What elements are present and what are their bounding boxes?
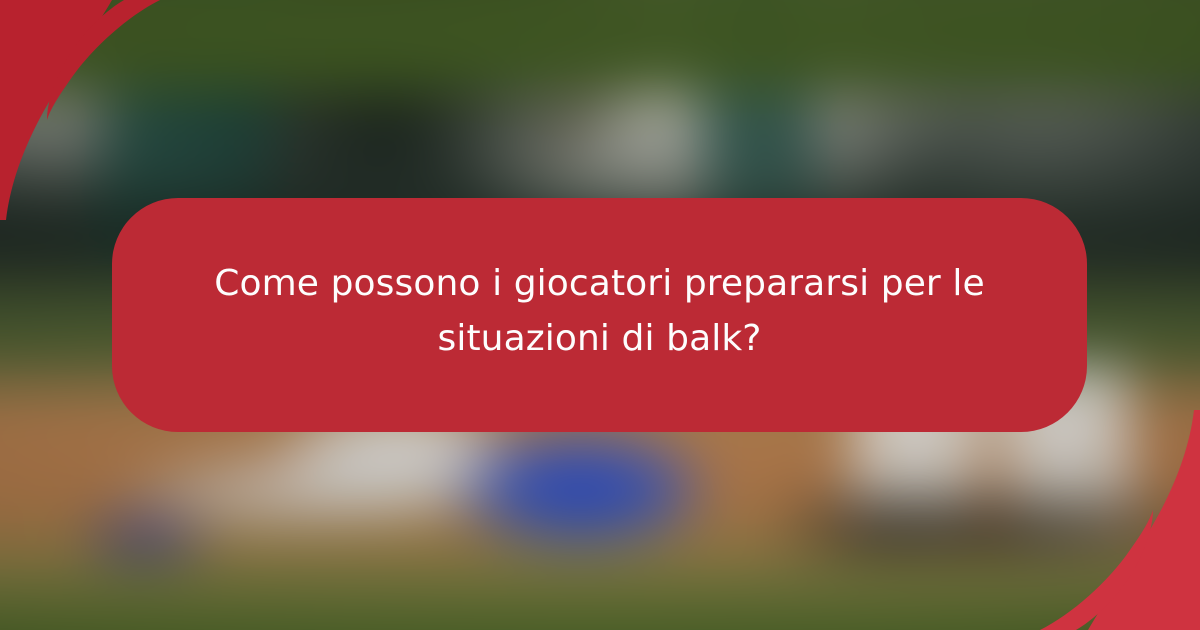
share-card-canvas: Come possono i giocatori prepararsi per … <box>0 0 1200 630</box>
question-title: Come possono i giocatori prepararsi per … <box>182 257 1017 366</box>
question-card: Come possono i giocatori prepararsi per … <box>112 198 1087 432</box>
